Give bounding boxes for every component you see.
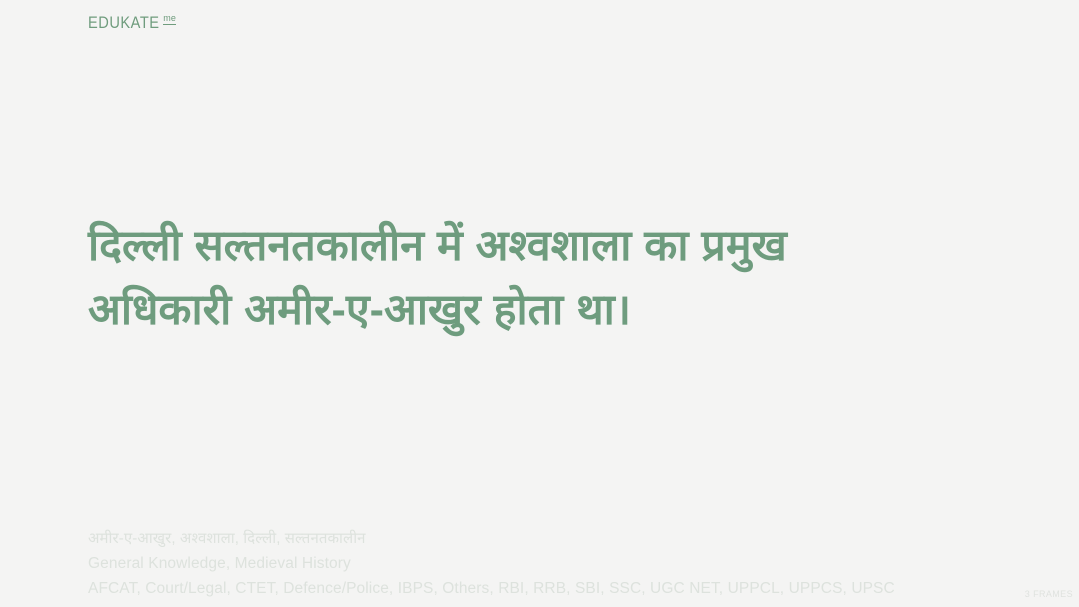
exams-line: AFCAT, Court/Legal, CTET, Defence/Police… [88, 576, 988, 601]
brand-suffix: me [163, 14, 176, 25]
corner-watermark: 3 FRAMES [1025, 589, 1073, 600]
brand-name: EDUKATE [88, 13, 160, 33]
question-heading: दिल्ली सल्तनतकालीन में अश्वशाला का प्रमु… [88, 214, 918, 342]
slide-canvas: EDUKATE me दिल्ली सल्तनतकालीन में अश्वशा… [0, 0, 1079, 607]
meta-block: अमीर-ए-आखुर, अश्वशाला, दिल्ली, सल्तनतकाल… [88, 526, 988, 601]
keywords-line: अमीर-ए-आखुर, अश्वशाला, दिल्ली, सल्तनतकाल… [88, 526, 988, 551]
categories-line: General Knowledge, Medieval History [88, 551, 988, 576]
brand-logo[interactable]: EDUKATE me [88, 13, 176, 33]
